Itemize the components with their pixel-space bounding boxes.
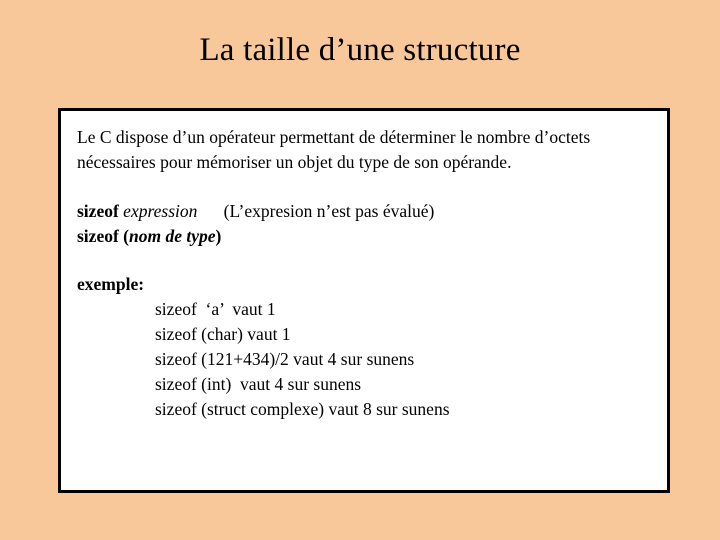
list-item: sizeof (char) vaut 1	[77, 322, 651, 347]
slide: La taille d’une structure Le C dispose d…	[0, 0, 720, 540]
syntax-note-1: (L’expresion n’est pas évalué)	[224, 201, 435, 221]
syntax-line-1: sizeof expression (L’expresion n’est pas…	[77, 199, 651, 224]
list-item: sizeof (121+434)/2 vaut 4 sur sunens	[77, 347, 651, 372]
page-title: La taille d’une structure	[0, 32, 720, 69]
list-item: sizeof (struct complexe) vaut 8 sur sune…	[77, 397, 651, 422]
list-item: sizeof ‘a’ vaut 1	[77, 297, 651, 322]
syntax-line-2: sizeof (nom de type)	[77, 224, 651, 249]
list-item: sizeof (int) vaut 4 sur sunens	[77, 372, 651, 397]
spacer-1	[77, 175, 651, 199]
syntax-operand-2: nom de type	[129, 226, 216, 246]
intro-paragraph: Le C dispose d’un opérateur permettant d…	[77, 125, 651, 175]
syntax-paren-close: )	[216, 226, 222, 246]
content-box: Le C dispose d’un opérateur permettant d…	[58, 108, 670, 493]
example-label: exemple:	[77, 274, 651, 295]
syntax-keyword-1: sizeof	[77, 201, 119, 221]
syntax-operand-1: expression	[123, 201, 197, 221]
example-list: sizeof ‘a’ vaut 1 sizeof (char) vaut 1 s…	[77, 297, 651, 421]
syntax-keyword-2: sizeof	[77, 226, 119, 246]
